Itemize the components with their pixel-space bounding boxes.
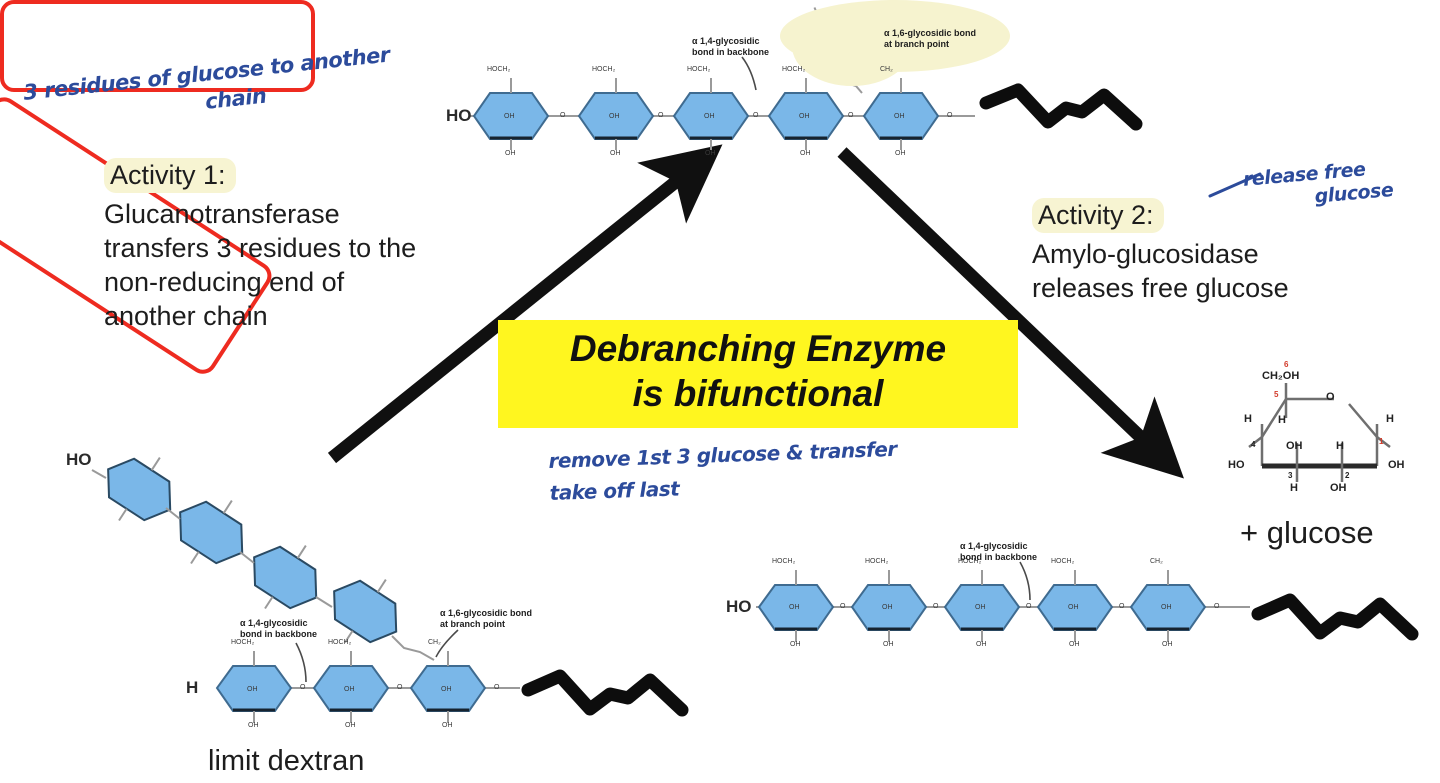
bond-label-backbone-limit-dextran: α 1,4-glycosidic bond in backbone: [240, 618, 317, 640]
sugar-label-ch2oh: HOCH₂: [687, 66, 710, 74]
glucose-label-oh-center: OH: [1286, 440, 1303, 452]
sugar-link-o: O: [658, 112, 663, 120]
sugar-label-oh: OH: [883, 641, 894, 649]
handwriting-leader-line: [1208, 170, 1268, 200]
activity-1-tag: Activity 1:: [104, 158, 236, 193]
sugar-label-ch2: CH₂: [880, 66, 893, 74]
sugar-link-o: O: [840, 603, 845, 611]
sugar-link-o: O: [1119, 603, 1124, 611]
callout-line-1: Debranching Enzyme: [516, 326, 1000, 371]
caption-limit-dextran: limit dextran: [208, 745, 364, 778]
glucose-carbon-4: 4: [1251, 440, 1255, 449]
glucose-label-h-upper-left: H: [1244, 413, 1252, 425]
sugar-label-oh: OH: [610, 150, 621, 158]
sugar-label-oh: OH: [789, 604, 800, 612]
callout-line-2: is bifunctional: [516, 371, 1000, 416]
sugar-link-o: O: [933, 603, 938, 611]
sugar-label-oh: OH: [344, 686, 355, 694]
sugar-label-oh: OH: [976, 641, 987, 649]
sugar-label-ch2oh: HOCH₂: [772, 558, 795, 566]
debranching-enzyme-callout: Debranching Enzyme is bifunctional: [498, 320, 1018, 428]
slide-canvas: HOCH₂ HOCH₂ HOCH₂ HOCH₂ CH₂ OH OH OH OH …: [0, 0, 1440, 783]
glucose-label-h-upper-right: H: [1386, 413, 1394, 425]
sugar-label-oh: OH: [800, 150, 811, 158]
sugar-label-oh: OH: [895, 150, 906, 158]
bond-label-backbone-bottom: α 1,4-glycosidic bond in backbone: [960, 541, 1037, 563]
glucose-carbon-2: 2: [1345, 471, 1349, 480]
sugar-label-oh: OH: [504, 113, 515, 121]
sugar-label-ch2oh: HOCH₂: [782, 66, 805, 74]
sugar-label-oh: OH: [705, 150, 716, 158]
sugar-label-oh: OH: [247, 686, 258, 694]
chain-endcap-h-limit-dextran: H: [186, 678, 198, 698]
activity-2-text: Amylo-glucosidase releases free glucose: [1032, 237, 1432, 305]
sugar-label-oh: OH: [975, 604, 986, 612]
sugar-label-oh: OH: [1162, 641, 1173, 649]
limit-dextran-backbone: [217, 630, 520, 723]
sugar-label-ch2oh: HOCH₂: [231, 639, 254, 647]
sugar-link-o: O: [947, 112, 952, 120]
chain-continuation-squiggle-top: [986, 90, 1136, 124]
sugar-label-oh: OH: [882, 604, 893, 612]
glucose-carbon-1: 1: [1379, 437, 1383, 446]
sugar-link-o: O: [494, 684, 499, 692]
sugar-link-o: O: [848, 112, 853, 120]
sugar-label-ch2oh: HOCH₂: [592, 66, 615, 74]
glucose-label-oh-right: OH: [1388, 459, 1405, 471]
sugar-link-o: O: [1214, 603, 1219, 611]
glucose-haworth-structure: [1249, 383, 1390, 482]
sugar-label-ch2oh: HOCH₂: [865, 558, 888, 566]
chain-endcap-ho-limit-dextran: HO: [66, 450, 92, 470]
chain-continuation-squiggle-bottom: [1258, 600, 1412, 634]
glucose-carbon-3: 3: [1288, 471, 1292, 480]
activity-2-tag: Activity 2:: [1032, 198, 1164, 233]
sugar-label-oh: OH: [248, 722, 259, 730]
sugar-link-o: O: [1026, 603, 1031, 611]
sugar-label-oh: OH: [1068, 604, 1079, 612]
sugar-label-oh: OH: [345, 722, 356, 730]
sugar-label-oh: OH: [1161, 604, 1172, 612]
chain-endcap-ho-bottom: HO: [726, 597, 752, 617]
sugar-link-o: O: [753, 112, 758, 120]
sugar-label-oh: OH: [799, 113, 810, 121]
sugar-label-ch2oh: HOCH₂: [328, 639, 351, 647]
sugar-label-oh: OH: [894, 113, 905, 121]
bond-label-backbone-top: α 1,4-glycosidic bond in backbone: [692, 36, 769, 58]
sugar-label-ch2oh: HOCH₂: [487, 66, 510, 74]
glycogen-chain-bottom-right: [756, 562, 1250, 642]
sugar-link-o: O: [300, 684, 305, 692]
sugar-label-oh: OH: [1069, 641, 1080, 649]
glucose-label-h-center: H: [1336, 440, 1344, 452]
bond-label-branch-top: α 1,6-glycosidic bond at branch point: [884, 28, 976, 50]
activity-2-block: Activity 2: Amylo-glucosidase releases f…: [1032, 198, 1432, 305]
sugar-label-oh: OH: [505, 150, 516, 158]
caption-plus-glucose: + glucose: [1240, 515, 1374, 551]
bond-label-branch-limit-dextran: α 1,6-glycosidic bond at branch point: [440, 608, 532, 630]
sugar-label-ch2: CH₂: [428, 639, 441, 647]
glucose-label-oh-bottom: OH: [1330, 482, 1347, 494]
sugar-label-ch2: CH₂: [1150, 558, 1163, 566]
sugar-label-oh: OH: [790, 641, 801, 649]
sugar-link-o: O: [560, 112, 565, 120]
glucose-label-h-bottom: H: [1290, 482, 1298, 494]
chain-continuation-squiggle-limit-dextran: [528, 676, 682, 710]
sugar-label-oh: OH: [609, 113, 620, 121]
sugar-label-ch2oh: HOCH₂: [1051, 558, 1074, 566]
glucose-label-ho-left: HO: [1228, 459, 1245, 471]
activity-1-text: Glucanotransferase transfers 3 residues …: [104, 197, 534, 333]
sugar-label-oh: OH: [704, 113, 715, 121]
sugar-label-oh: OH: [441, 686, 452, 694]
glucose-label-ch2oh: CH₂OH: [1262, 370, 1299, 382]
glucose-label-h-left: H: [1278, 414, 1286, 426]
glucose-carbon-5: 5: [1274, 390, 1278, 399]
chain-endcap-ho-top: HO: [446, 106, 472, 126]
glucose-carbon-6: 6: [1284, 360, 1288, 369]
glucose-label-o: O: [1326, 391, 1335, 403]
sugar-link-o: O: [397, 684, 402, 692]
sugar-label-oh: OH: [442, 722, 453, 730]
activity-1-block: Activity 1: Glucanotransferase transfers…: [104, 158, 534, 333]
